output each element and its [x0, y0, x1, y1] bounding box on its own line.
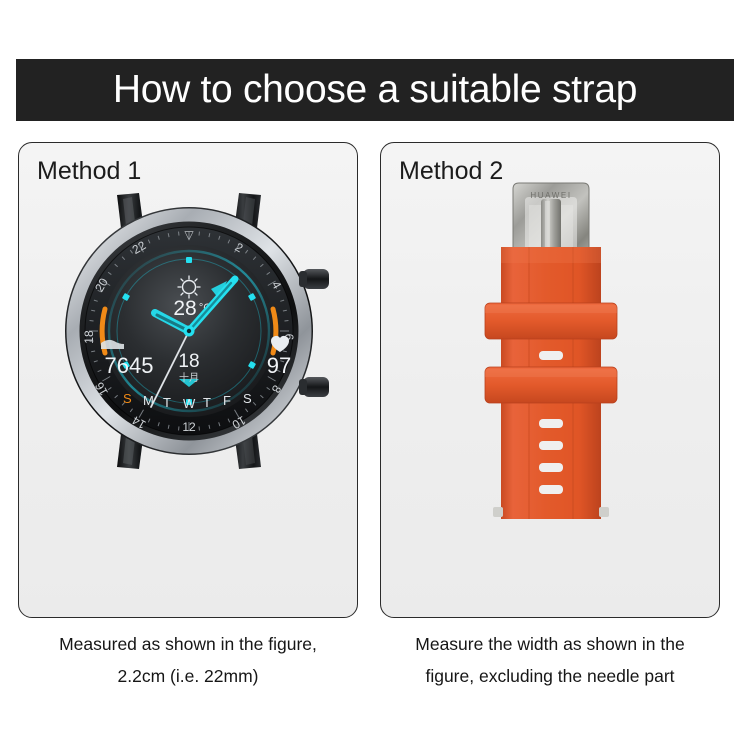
watch-strap-illustration: HUAWEI: [451, 181, 651, 529]
weekday-s1: S: [123, 391, 132, 406]
page-banner: How to choose a suitable strap: [16, 59, 734, 121]
buckle-engraving: HUAWEI: [530, 191, 571, 200]
weekday-t2: T: [203, 395, 211, 410]
watch-date-month: 十月: [179, 371, 199, 384]
watch-date-complication: 18 十月: [178, 351, 199, 384]
watch-steps-value: 7645: [105, 353, 154, 378]
method-1-caption: Measured as shown in the figure, 2.2cm (…: [18, 628, 358, 692]
weekday-t1: T: [163, 395, 171, 410]
strap-keeper-loop-1: [485, 303, 617, 339]
page-title: How to choose a suitable strap: [113, 68, 637, 112]
weekday-f: F: [223, 393, 231, 408]
method-1-caption-line-1: Measured as shown in the figure,: [18, 628, 358, 660]
weekday-s2: S: [243, 391, 252, 406]
method-1-label: Method 1: [37, 157, 141, 186]
page-root: How to choose a suitable strap Method 1: [0, 0, 750, 750]
method-2-caption: Measure the width as shown in the figure…: [380, 628, 720, 692]
svg-text:18: 18: [82, 330, 96, 344]
strap-hole-upper: [539, 351, 563, 360]
watch-date-day: 18: [178, 351, 199, 372]
method-2-caption-line-1: Measure the width as shown in the: [380, 628, 720, 660]
method-1-panel: Method 1: [18, 142, 358, 618]
method-2-caption-line-2: figure, excluding the needle part: [380, 660, 720, 692]
smartwatch-illustration: ▽ 2 4 6 8 10 12 14 16 18 20 22: [39, 191, 339, 471]
weekday-w: W: [183, 396, 196, 411]
method-1-caption-line-2: 2.2cm (i.e. 22mm): [18, 660, 358, 692]
watch-temperature-value: 28: [173, 297, 196, 320]
strap-keeper-loop-2: [485, 367, 617, 403]
watch-heartrate-value: 97: [267, 353, 291, 378]
method-2-panel: Method 2: [380, 142, 720, 618]
